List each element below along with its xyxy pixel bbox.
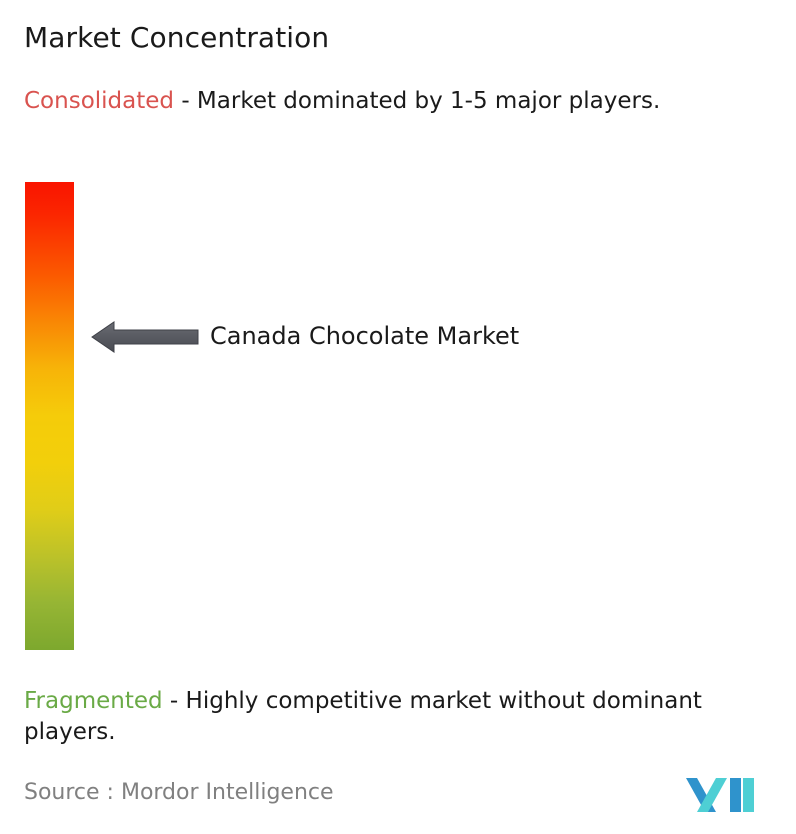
arrow-left-icon — [88, 318, 200, 356]
legend-consolidated: Consolidated - Market dominated by 1-5 m… — [24, 86, 784, 117]
concentration-gradient-bar — [25, 182, 74, 650]
legend-fragmented: Fragmented - Highly competitive market w… — [24, 686, 784, 748]
legend-fragmented-keyword: Fragmented — [24, 688, 163, 714]
page-title: Market Concentration — [24, 20, 329, 56]
market-pointer-group: Canada Chocolate Market — [88, 310, 608, 370]
source-attribution: Source : Mordor Intelligence — [24, 778, 334, 808]
market-pointer-label: Canada Chocolate Market — [210, 319, 519, 353]
mordor-intelligence-logo-icon — [686, 768, 754, 816]
legend-consolidated-description: - Market dominated by 1-5 major players. — [174, 88, 660, 114]
footer: Source : Mordor Intelligence — [24, 778, 772, 824]
legend-consolidated-keyword: Consolidated — [24, 88, 174, 114]
